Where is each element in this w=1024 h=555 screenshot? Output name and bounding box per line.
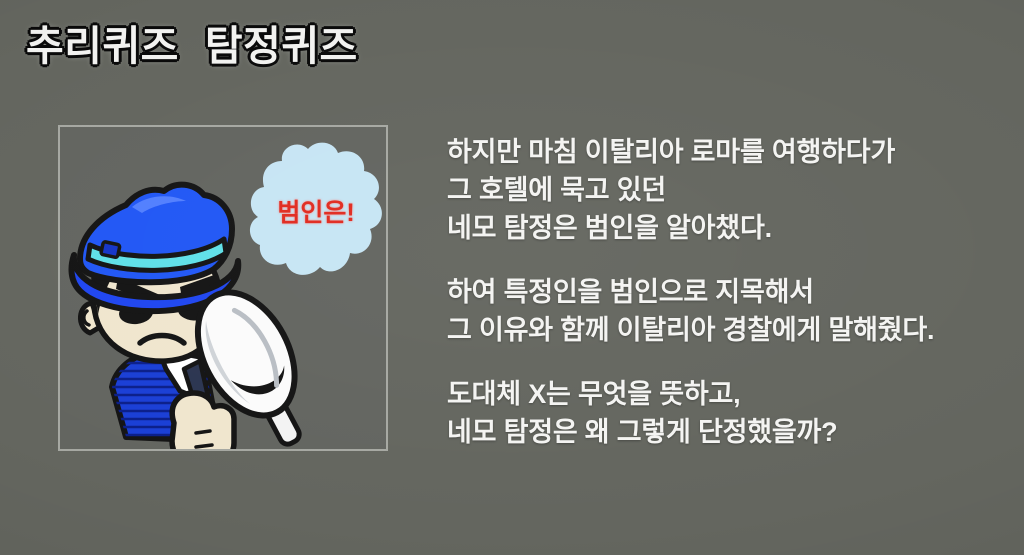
narration-line: 하지만 마침 이탈리아 로마를 여행하다가	[447, 133, 1007, 171]
hand-icon	[172, 393, 234, 449]
narration-block: 하지만 마침 이탈리아 로마를 여행하다가 그 호텔에 묵고 있던 네모 탐정은…	[447, 133, 1007, 451]
title-part-1: 추리퀴즈	[26, 23, 179, 69]
speech-bubble: 범인은!	[246, 137, 386, 297]
title-part-2: 탐정퀴즈	[205, 23, 358, 69]
narration-line: 하여 특정인을 범인으로 지목해서	[447, 273, 1007, 311]
page-title: 추리퀴즈탐정퀴즈	[26, 12, 358, 72]
illustration-frame: 범인은!	[58, 125, 388, 451]
speech-bubble-text: 범인은!	[246, 193, 386, 229]
narration-line: 그 이유와 함께 이탈리아 경찰에게 말해줬다.	[447, 311, 1007, 349]
narration-line: 네모 탐정은 범인을 알아챘다.	[447, 209, 1007, 247]
narration-paragraph: 도대체 X는 무엇을 뜻하고, 네모 탐정은 왜 그렇게 단정했을까?	[447, 375, 1007, 451]
narration-line: 그 호텔에 묵고 있던	[447, 171, 1007, 209]
narration-line: 도대체 X는 무엇을 뜻하고,	[447, 375, 1007, 413]
quiz-slide: 추리퀴즈탐정퀴즈	[0, 0, 1024, 555]
narration-paragraph: 하여 특정인을 범인으로 지목해서 그 이유와 함께 이탈리아 경찰에게 말해줬…	[447, 273, 1007, 349]
narration-line: 네모 탐정은 왜 그렇게 단정했을까?	[447, 413, 1007, 451]
narration-paragraph: 하지만 마침 이탈리아 로마를 여행하다가 그 호텔에 묵고 있던 네모 탐정은…	[447, 133, 1007, 247]
illustration-canvas: 범인은!	[60, 127, 386, 449]
